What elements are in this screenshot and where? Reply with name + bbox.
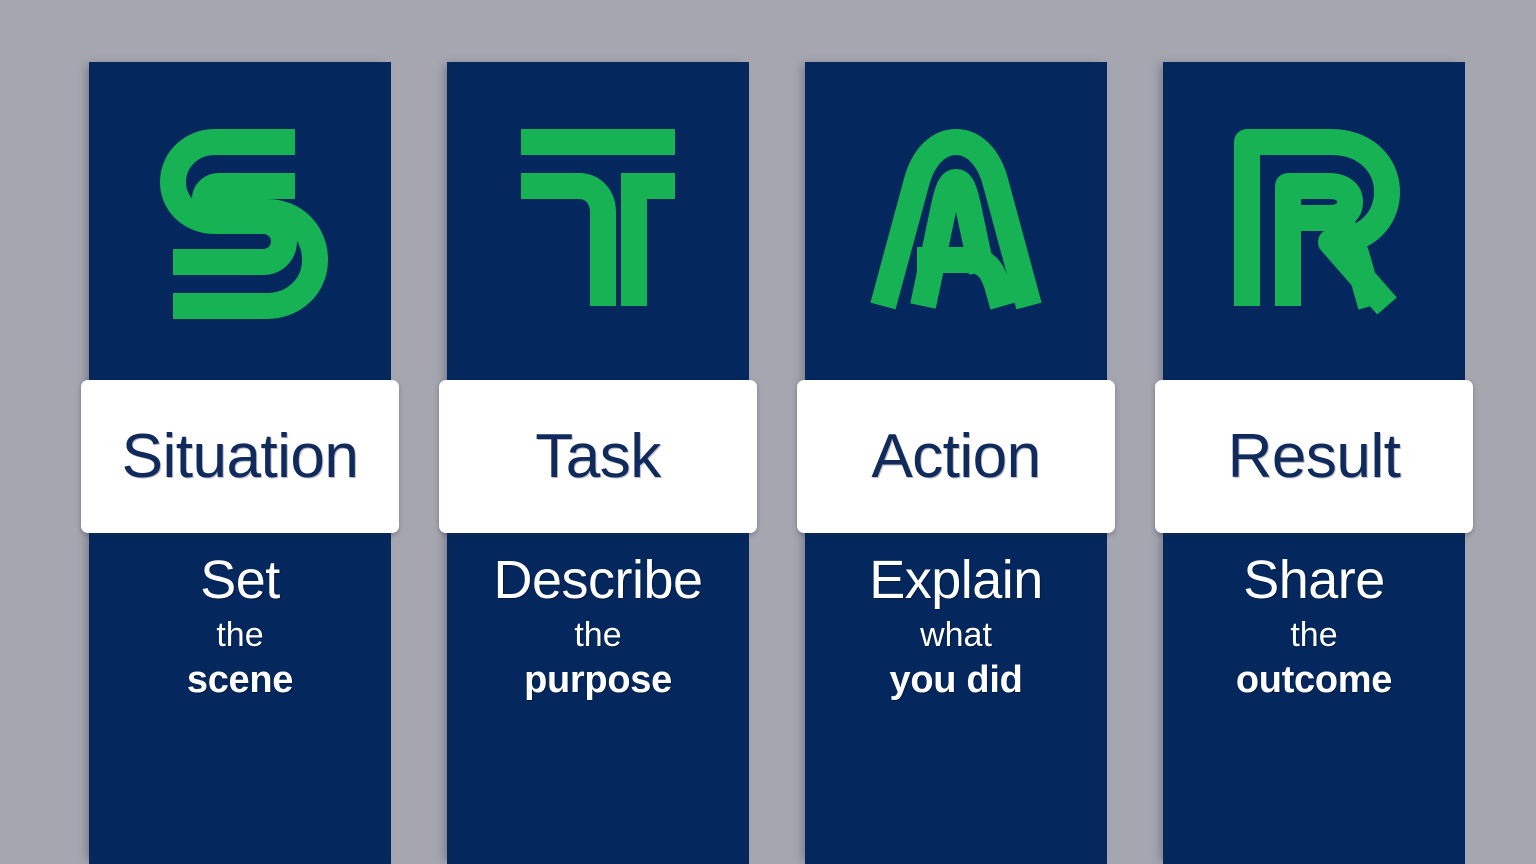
caption-situation: Set the scene	[89, 553, 391, 699]
caption-line-connector: the	[89, 618, 391, 652]
star-column-action[interactable]: Action Explain what you did	[805, 0, 1107, 864]
caption-line-emphasis: scene	[89, 661, 391, 699]
star-column-situation[interactable]: Situation Set the scene	[89, 0, 391, 864]
caption-line-primary: Share	[1163, 553, 1465, 607]
star-method-infographic: Situation Set the scene Tas	[0, 0, 1536, 864]
star-column-task[interactable]: Task Describe the purpose	[447, 0, 749, 864]
column-title: Situation	[122, 426, 359, 488]
caption-task: Describe the purpose	[447, 553, 749, 699]
label-band-task[interactable]: Task	[439, 380, 757, 533]
caption-line-emphasis: you did	[805, 661, 1107, 699]
caption-line-primary: Describe	[447, 553, 749, 607]
label-band-action[interactable]: Action	[797, 380, 1115, 533]
column-title: Result	[1228, 426, 1401, 488]
caption-line-connector: what	[805, 618, 1107, 652]
caption-line-primary: Explain	[805, 553, 1107, 607]
star-columns-row: Situation Set the scene Tas	[0, 0, 1536, 864]
caption-action: Explain what you did	[805, 553, 1107, 699]
star-column-result[interactable]: Result Share the outcome	[1163, 0, 1465, 864]
caption-line-emphasis: purpose	[447, 661, 749, 699]
caption-line-connector: the	[1163, 618, 1465, 652]
caption-result: Share the outcome	[1163, 553, 1465, 699]
label-band-situation[interactable]: Situation	[81, 380, 399, 533]
caption-line-connector: the	[447, 618, 749, 652]
label-band-result[interactable]: Result	[1155, 380, 1473, 533]
caption-line-emphasis: outcome	[1163, 661, 1465, 699]
column-title: Action	[871, 426, 1040, 488]
column-title: Task	[535, 426, 660, 488]
caption-line-primary: Set	[89, 553, 391, 607]
